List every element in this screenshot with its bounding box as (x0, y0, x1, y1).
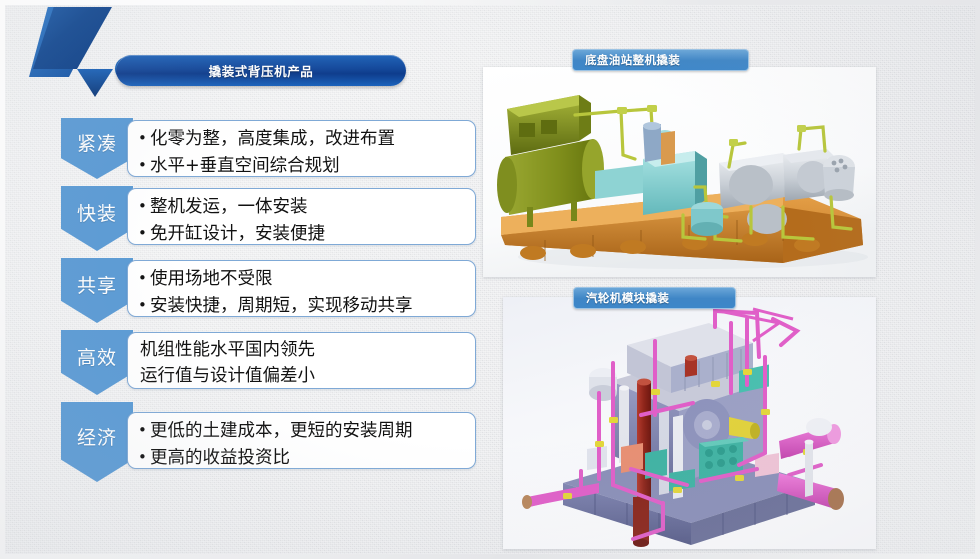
photo-label-text: 底盘油站整机撬装 (585, 52, 680, 68)
slide-canvas: 撬装式背压机产品 紧凑 化零为整，高度集成，改进布置 水平+垂直空间综合规划 (0, 0, 980, 559)
feature-textbox: 使用场地不受限 安装快捷，周期短，实现移动共享 (127, 260, 476, 317)
feature-label: 快装 (77, 199, 117, 226)
photo-label-text: 汽轮机模块撬装 (586, 290, 669, 306)
turbine-generator-render (483, 67, 876, 277)
feature-row: 经济 更低的土建成本，更短的安装周期 更高的收益投资比 (61, 402, 476, 482)
slide-title-banner: 撬装式背压机产品 (116, 55, 406, 86)
feature-textbox: 更低的土建成本，更短的安装周期 更高的收益投资比 (127, 412, 476, 469)
feature-bullet: 更高的收益投资比 (138, 444, 467, 471)
feature-bullet: 安装快捷，周期短，实现移动共享 (138, 292, 467, 319)
slide-inner: 撬装式背压机产品 紧凑 化零为整，高度集成，改进布置 水平+垂直空间综合规划 (5, 5, 975, 554)
feature-bullet: 使用场地不受限 (138, 265, 467, 292)
feature-chevron-compact: 紧凑 (61, 118, 133, 179)
feature-chevron-efficient: 高效 (61, 330, 133, 395)
feature-textbox: 化零为整，高度集成，改进布置 水平+垂直空间综合规划 (127, 120, 476, 177)
feature-row: 高效 机组性能水平国内领先 运行值与设计值偏差小 (61, 330, 476, 395)
feature-label: 紧凑 (77, 129, 117, 156)
page-title: 撬装式背压机产品 (209, 61, 314, 80)
feature-bullet: 更低的土建成本，更短的安装周期 (138, 417, 467, 444)
company-logo-icon (19, 7, 139, 99)
photo-label-turbine: 汽轮机模块撬装 (573, 287, 736, 309)
feature-chevron-quick-install: 快装 (61, 186, 133, 251)
feature-row: 紧凑 化零为整，高度集成，改进布置 水平+垂直空间综合规划 (61, 118, 476, 179)
feature-line: 运行值与设计值偏差小 (138, 363, 467, 389)
photo-chassis-oil-station (483, 67, 876, 277)
feature-chevron-shared: 共享 (61, 258, 133, 323)
feature-textbox: 整机发运，一体安装 免开缸设计，安装便捷 (127, 188, 476, 245)
feature-chevron-economic: 经济 (61, 402, 133, 482)
photo-turbine-module (503, 297, 876, 549)
feature-label: 经济 (77, 423, 117, 450)
feature-bullet: 整机发运，一体安装 (138, 193, 467, 220)
feature-textbox: 机组性能水平国内领先 运行值与设计值偏差小 (127, 332, 476, 389)
feature-bullet: 水平+垂直空间综合规划 (138, 152, 467, 179)
feature-bullet: 化零为整，高度集成，改进布置 (138, 125, 467, 152)
feature-line: 机组性能水平国内领先 (138, 337, 467, 363)
feature-list: 紧凑 化零为整，高度集成，改进布置 水平+垂直空间综合规划 快装 整机发运，一体… (61, 118, 476, 489)
feature-label: 共享 (77, 271, 117, 298)
feature-row: 快装 整机发运，一体安装 免开缸设计，安装便捷 (61, 186, 476, 251)
photo-label-chassis: 底盘油站整机撬装 (572, 49, 749, 71)
turbine-module-render (503, 297, 876, 549)
feature-bullet: 免开缸设计，安装便捷 (138, 220, 467, 247)
feature-label: 高效 (77, 343, 117, 370)
feature-row: 共享 使用场地不受限 安装快捷，周期短，实现移动共享 (61, 258, 476, 323)
